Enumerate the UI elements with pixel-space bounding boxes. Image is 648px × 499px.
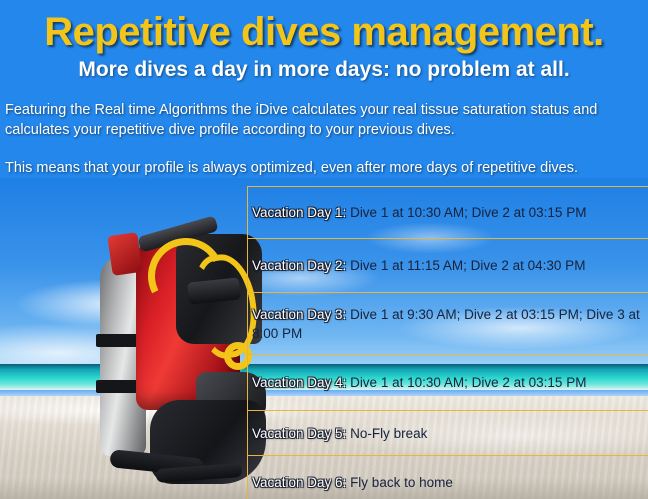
day-label: Vacation Day 5: xyxy=(252,426,346,441)
gear-pouch xyxy=(107,232,142,276)
day-detail: Dive 1 at 10:30 AM; Dive 2 at 03:15 PM xyxy=(346,375,586,390)
schedule-row-4: Vacation Day 4: Dive 1 at 10:30 AM; Dive… xyxy=(252,374,586,391)
table-row: Vacation Day 4: Dive 1 at 10:30 AM; Dive… xyxy=(248,355,648,411)
body-copy: Featuring the Real time Algorithms the i… xyxy=(5,100,648,178)
schedule-row-5: Vacation Day 5: No-Fly break xyxy=(252,425,427,442)
table-row: Vacation Day 6: Fly back to home xyxy=(248,456,648,499)
page-title: Repetitive dives management. xyxy=(0,10,648,55)
page-subtitle: More dives a day in more days: no proble… xyxy=(0,58,648,82)
table-row: Vacation Day 2: Dive 1 at 11:15 AM; Dive… xyxy=(248,239,648,293)
schedule-row-3: Vacation Day 3: Dive 1 at 9:30 AM; Dive … xyxy=(252,305,648,343)
table-row: Vacation Day 1: Dive 1 at 10:30 AM; Dive… xyxy=(248,187,648,239)
schedule-row-1: Vacation Day 1: Dive 1 at 10:30 AM; Dive… xyxy=(252,204,586,221)
day-detail: Fly back to home xyxy=(346,475,453,490)
table-row: Vacation Day 3: Dive 1 at 9:30 AM; Dive … xyxy=(248,293,648,355)
day-label: Vacation Day 2: xyxy=(252,258,346,273)
day-label: Vacation Day 1: xyxy=(252,205,346,220)
day-label: Vacation Day 4: xyxy=(252,375,346,390)
slide-canvas: Repetitive dives management. More dives … xyxy=(0,0,648,499)
day-label: Vacation Day 3: xyxy=(252,307,346,322)
day-detail: No-Fly break xyxy=(346,426,427,441)
repetitive-dive-schedule-table: Vacation Day 1: Dive 1 at 10:30 AM; Dive… xyxy=(247,186,648,499)
day-detail: Dive 1 at 11:15 AM; Dive 2 at 04:30 PM xyxy=(346,258,585,273)
schedule-row-6: Vacation Day 6: Fly back to home xyxy=(252,474,453,491)
paragraph-1-line-1: Featuring the Real time Algorithms the i… xyxy=(5,100,648,120)
paragraph-1-line-2: calculates your repetitive dive profile … xyxy=(5,120,648,140)
day-label: Vacation Day 6: xyxy=(252,475,346,490)
schedule-row-2: Vacation Day 2: Dive 1 at 11:15 AM; Dive… xyxy=(252,257,585,274)
table-row: Vacation Day 5: No-Fly break xyxy=(248,411,648,456)
paragraph-2: This means that your profile is always o… xyxy=(5,158,648,178)
day-detail: Dive 1 at 10:30 AM; Dive 2 at 03:15 PM xyxy=(346,205,586,220)
